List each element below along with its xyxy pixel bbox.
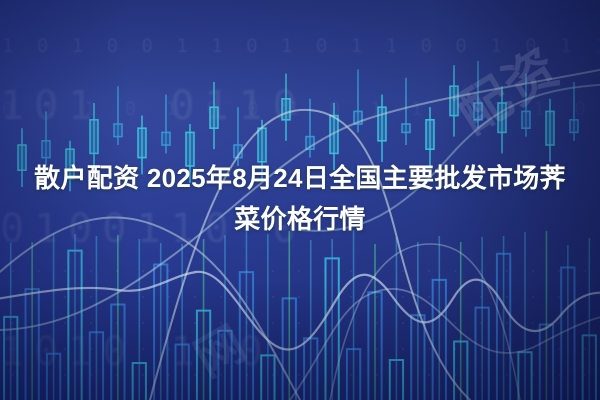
banner-image: 1 0 1 0 0 1 1 0 1 0 1 1 0 0 1 0 1 1 0 1 …	[0, 0, 600, 400]
page-title-line-1: 散户配资 2025年8月24日全国主要批发市场荠	[34, 158, 566, 199]
page-title-line-2: 菜价格行情	[234, 199, 366, 240]
page-title: 散户配资 2025年8月24日全国主要批发市场荠 菜价格行情	[0, 140, 600, 258]
